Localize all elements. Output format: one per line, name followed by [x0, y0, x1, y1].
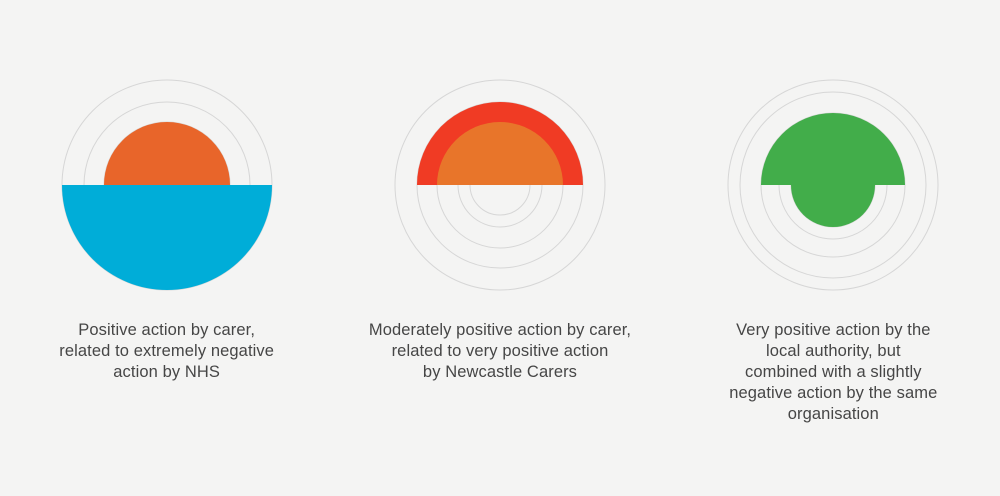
panel-1-caption: Positive action by carer, related to ext… — [17, 320, 317, 383]
panel-3-caption: Very positive action by the local author… — [683, 320, 983, 425]
lower-semicircle-green — [791, 185, 875, 227]
dial-2 — [385, 70, 615, 300]
dial-1 — [52, 70, 282, 300]
dial-2-svg — [385, 70, 615, 300]
lower-semicircle-cyan — [62, 185, 272, 290]
dial-3-svg — [718, 70, 948, 300]
dial-1-svg — [52, 70, 282, 300]
diagram-panel-3: Very positive action by the local author… — [667, 0, 1000, 496]
upper-semicircle-orange — [104, 122, 230, 185]
panel-2-caption: Moderately positive action by carer, rel… — [350, 320, 650, 383]
diagram-panel-1: Positive action by carer, related to ext… — [0, 0, 333, 496]
dial-3 — [718, 70, 948, 300]
upper-semicircle-green — [761, 113, 905, 185]
infographic-canvas: Positive action by carer, related to ext… — [0, 0, 1000, 496]
diagram-panel-2: Moderately positive action by carer, rel… — [333, 0, 666, 496]
